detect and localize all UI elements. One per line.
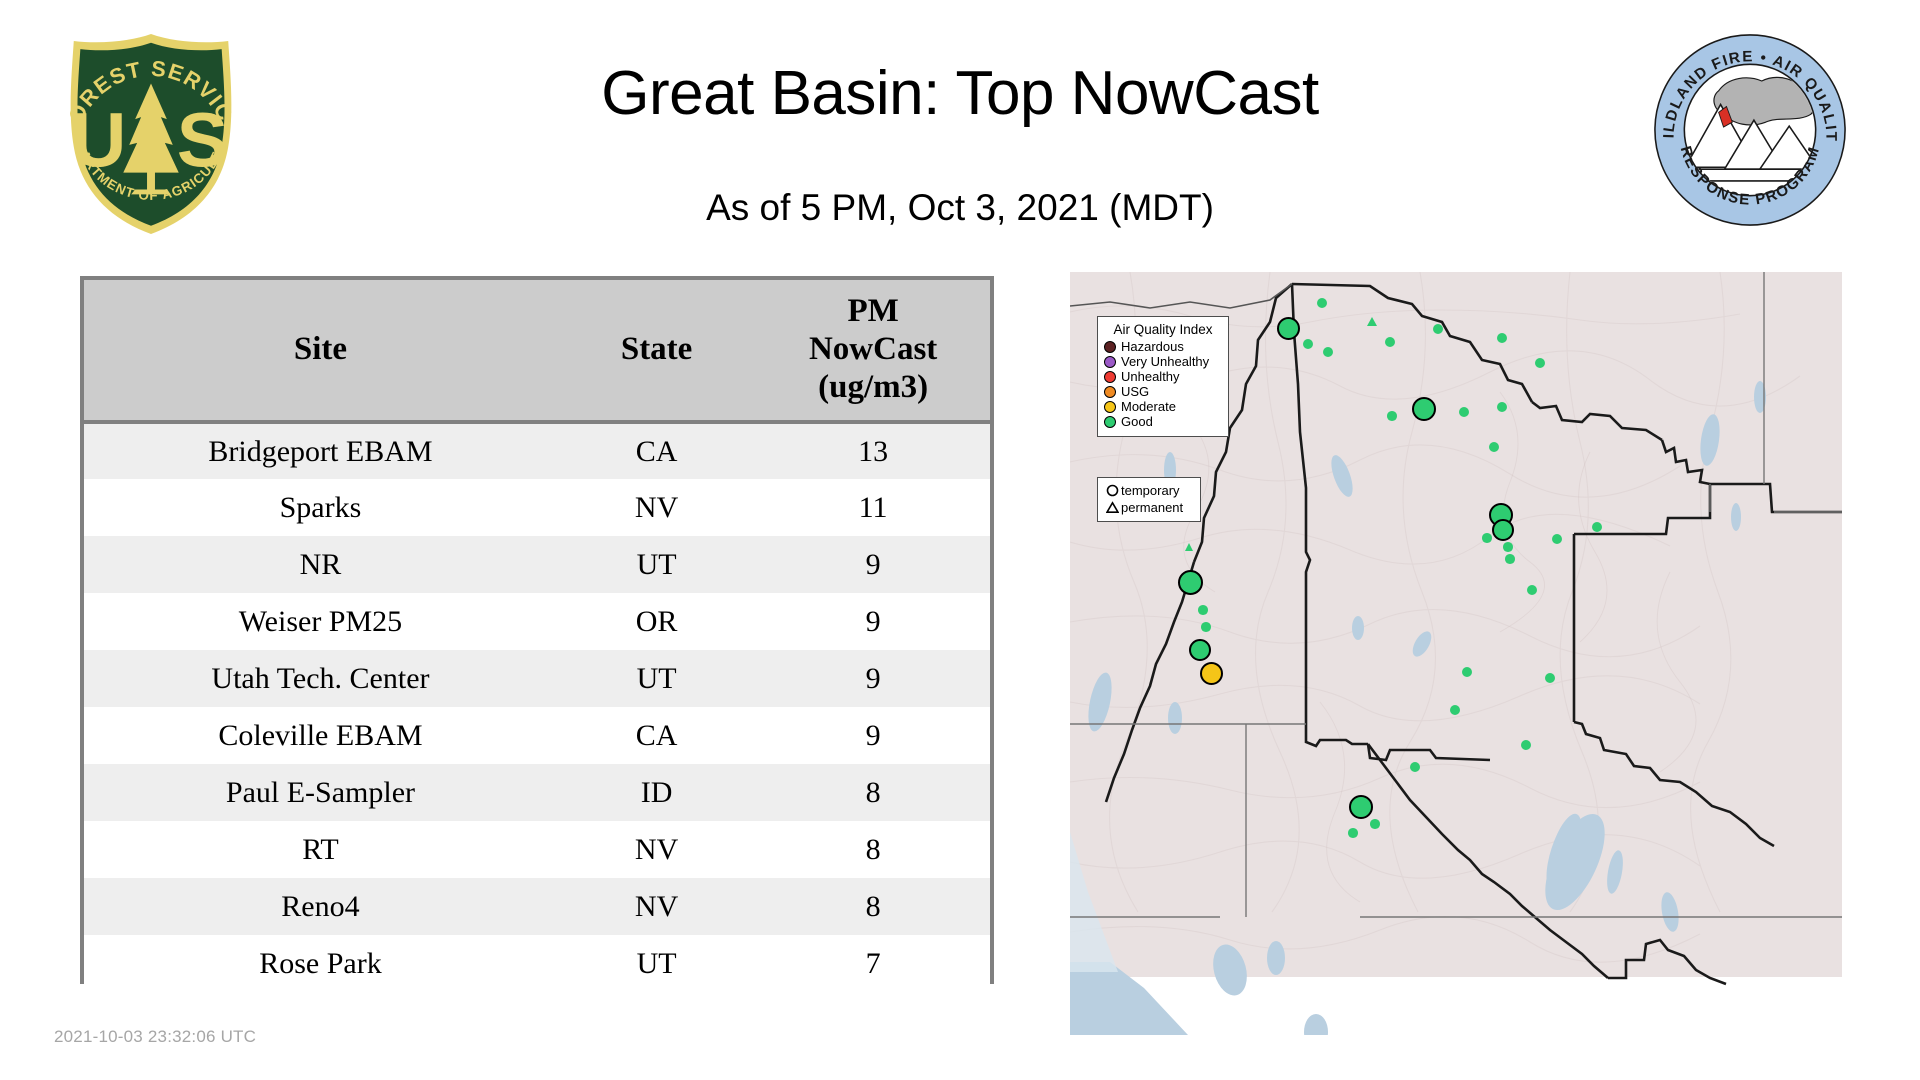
table-row: Paul E-SamplerID8 (84, 764, 990, 821)
cell-state: NV (557, 878, 756, 935)
cell-value: 7 (756, 935, 990, 992)
monitor-marker-temporary[interactable] (1459, 407, 1469, 417)
monitor-marker-temporary[interactable] (1482, 533, 1492, 543)
pm-nowcast-line3: (ug/m3) (818, 369, 928, 405)
cell-site: Sparks (84, 479, 557, 536)
legend-temporary-label: temporary (1121, 483, 1180, 498)
cell-site: RT (84, 821, 557, 878)
monitor-marker-temporary[interactable] (1178, 570, 1203, 595)
aqi-swatch-icon (1104, 371, 1116, 383)
monitor-marker-temporary[interactable] (1277, 317, 1300, 340)
cell-value: 9 (756, 536, 990, 593)
aqi-legend-label: USG (1121, 385, 1149, 399)
aqi-legend-item: Moderate (1104, 400, 1222, 415)
cell-site: Coleville EBAM (84, 707, 557, 764)
monitor-marker-temporary[interactable] (1189, 639, 1211, 661)
cell-site: Utah Tech. Center (84, 650, 557, 707)
column-header-pm-nowcast: PM NowCast (ug/m3) (756, 280, 990, 422)
generated-timestamp: 2021-10-03 23:32:06 UTC (54, 1027, 256, 1047)
monitor-marker-temporary[interactable] (1462, 667, 1472, 677)
cell-state: ID (557, 764, 756, 821)
slide-root: FOREST SERVICE DEPARTMENT OF AGRICULTURE… (0, 0, 1920, 1080)
cell-site: Paul E-Sampler (84, 764, 557, 821)
table-row: Utah Tech. CenterUT9 (84, 650, 990, 707)
wfaqrp-logo: WILDLAND FIRE • AIR QUALITY RESPONSE PRO… (1652, 32, 1848, 228)
table-row: Reno4NV8 (84, 878, 990, 935)
cell-value: 13 (756, 422, 990, 479)
cell-value: 8 (756, 878, 990, 935)
cell-state: NV (557, 479, 756, 536)
aqi-legend-label: Good (1121, 415, 1153, 429)
table-header: Site State PM NowCast (ug/m3) (84, 280, 990, 422)
table-body: Bridgeport EBAMCA13SparksNV11NRUT9Weiser… (84, 422, 990, 992)
cell-site: Rose Park (84, 935, 557, 992)
monitor-marker-temporary[interactable] (1503, 542, 1513, 552)
cell-state: UT (557, 650, 756, 707)
usfs-letter-u: U (71, 98, 127, 184)
monitor-marker-temporary[interactable] (1201, 622, 1211, 632)
legend-permanent-label: permanent (1121, 500, 1183, 515)
table-row: Weiser PM25OR9 (84, 593, 990, 650)
usfs-letter-s: S (177, 98, 229, 184)
aqi-legend-label: Very Unhealthy (1121, 355, 1209, 369)
monitor-marker-temporary[interactable] (1521, 740, 1531, 750)
cell-value: 9 (756, 650, 990, 707)
cell-state: CA (557, 707, 756, 764)
monitor-marker-temporary[interactable] (1198, 605, 1208, 615)
cell-site: Bridgeport EBAM (84, 422, 557, 479)
page-title: Great Basin: Top NowCast (300, 58, 1620, 130)
aqi-swatch-icon (1104, 356, 1116, 368)
monitor-marker-temporary[interactable] (1527, 585, 1537, 595)
aqi-swatch-icon (1104, 416, 1116, 428)
aqi-swatch-icon (1104, 401, 1116, 413)
monitor-marker-temporary[interactable] (1489, 442, 1499, 452)
aqi-legend-items: HazardousVery UnhealthyUnhealthyUSGModer… (1104, 340, 1222, 430)
cell-state: CA (557, 422, 756, 479)
cell-site: Reno4 (84, 878, 557, 935)
legend-permanent-row: permanent (1104, 499, 1194, 516)
monitor-marker-temporary[interactable] (1200, 662, 1223, 685)
cell-value: 8 (756, 764, 990, 821)
monitor-marker-temporary[interactable] (1497, 402, 1507, 412)
cell-site: Weiser PM25 (84, 593, 557, 650)
cell-value: 8 (756, 821, 990, 878)
aqi-legend-title: Air Quality Index (1104, 322, 1222, 337)
monitor-marker-temporary[interactable] (1412, 397, 1436, 421)
monitor-marker-temporary[interactable] (1492, 519, 1514, 541)
aqi-legend-item: Hazardous (1104, 340, 1222, 355)
table-row: Rose ParkUT7 (84, 935, 990, 992)
us-forest-service-logo: FOREST SERVICE DEPARTMENT OF AGRICULTURE… (52, 28, 250, 240)
monitor-marker-temporary[interactable] (1505, 554, 1515, 564)
column-header-state: State (557, 280, 756, 422)
aqi-legend-label: Moderate (1121, 400, 1176, 414)
legend-temporary-row: temporary (1104, 482, 1194, 499)
monitor-marker-permanent[interactable] (1185, 543, 1193, 551)
monitor-map[interactable]: Air Quality Index HazardousVery Unhealth… (1070, 272, 1842, 1035)
cell-value: 9 (756, 707, 990, 764)
monitor-marker-temporary[interactable] (1348, 828, 1358, 838)
table-row: NRUT9 (84, 536, 990, 593)
table-row: Bridgeport EBAMCA13 (84, 422, 990, 479)
monitor-marker-temporary[interactable] (1545, 673, 1555, 683)
aqi-legend-label: Hazardous (1121, 340, 1184, 354)
monitor-marker-permanent[interactable] (1367, 317, 1377, 326)
monitor-marker-temporary[interactable] (1552, 534, 1562, 544)
table-row: SparksNV11 (84, 479, 990, 536)
triangle-icon (1104, 501, 1121, 514)
aqi-legend: Air Quality Index HazardousVery Unhealth… (1097, 316, 1229, 437)
monitor-marker-temporary[interactable] (1370, 819, 1380, 829)
monitor-marker-temporary[interactable] (1592, 522, 1602, 532)
table-row: RTNV8 (84, 821, 990, 878)
aqi-legend-item: USG (1104, 385, 1222, 400)
cell-state: OR (557, 593, 756, 650)
aqi-legend-item: Good (1104, 415, 1222, 430)
column-header-site: Site (84, 280, 557, 422)
table-header-row: Site State PM NowCast (ug/m3) (84, 280, 990, 422)
monitor-marker-temporary[interactable] (1450, 705, 1460, 715)
aqi-swatch-icon (1104, 341, 1116, 353)
aqi-legend-item: Unhealthy (1104, 370, 1222, 385)
cell-value: 11 (756, 479, 990, 536)
aqi-legend-label: Unhealthy (1121, 370, 1180, 384)
cell-state: UT (557, 935, 756, 992)
cell-state: UT (557, 536, 756, 593)
cell-value: 9 (756, 593, 990, 650)
nowcast-table-container: Site State PM NowCast (ug/m3) Bridgeport… (80, 276, 994, 984)
table-row: Coleville EBAMCA9 (84, 707, 990, 764)
page-subtitle: As of 5 PM, Oct 3, 2021 (MDT) (300, 186, 1620, 230)
cell-site: NR (84, 536, 557, 593)
monitor-marker-temporary[interactable] (1410, 762, 1420, 772)
monitor-marker-temporary[interactable] (1317, 298, 1327, 308)
monitor-marker-temporary[interactable] (1349, 795, 1373, 819)
nowcast-table: Site State PM NowCast (ug/m3) Bridgeport… (84, 280, 990, 992)
monitor-marker-temporary[interactable] (1387, 411, 1397, 421)
circle-icon (1104, 484, 1121, 497)
aqi-swatch-icon (1104, 386, 1116, 398)
cell-state: NV (557, 821, 756, 878)
pm-nowcast-line2: NowCast (809, 331, 937, 367)
monitor-type-legend: temporary permanent (1097, 477, 1201, 522)
aqi-legend-item: Very Unhealthy (1104, 355, 1222, 370)
pm-nowcast-line1: PM (847, 293, 898, 329)
